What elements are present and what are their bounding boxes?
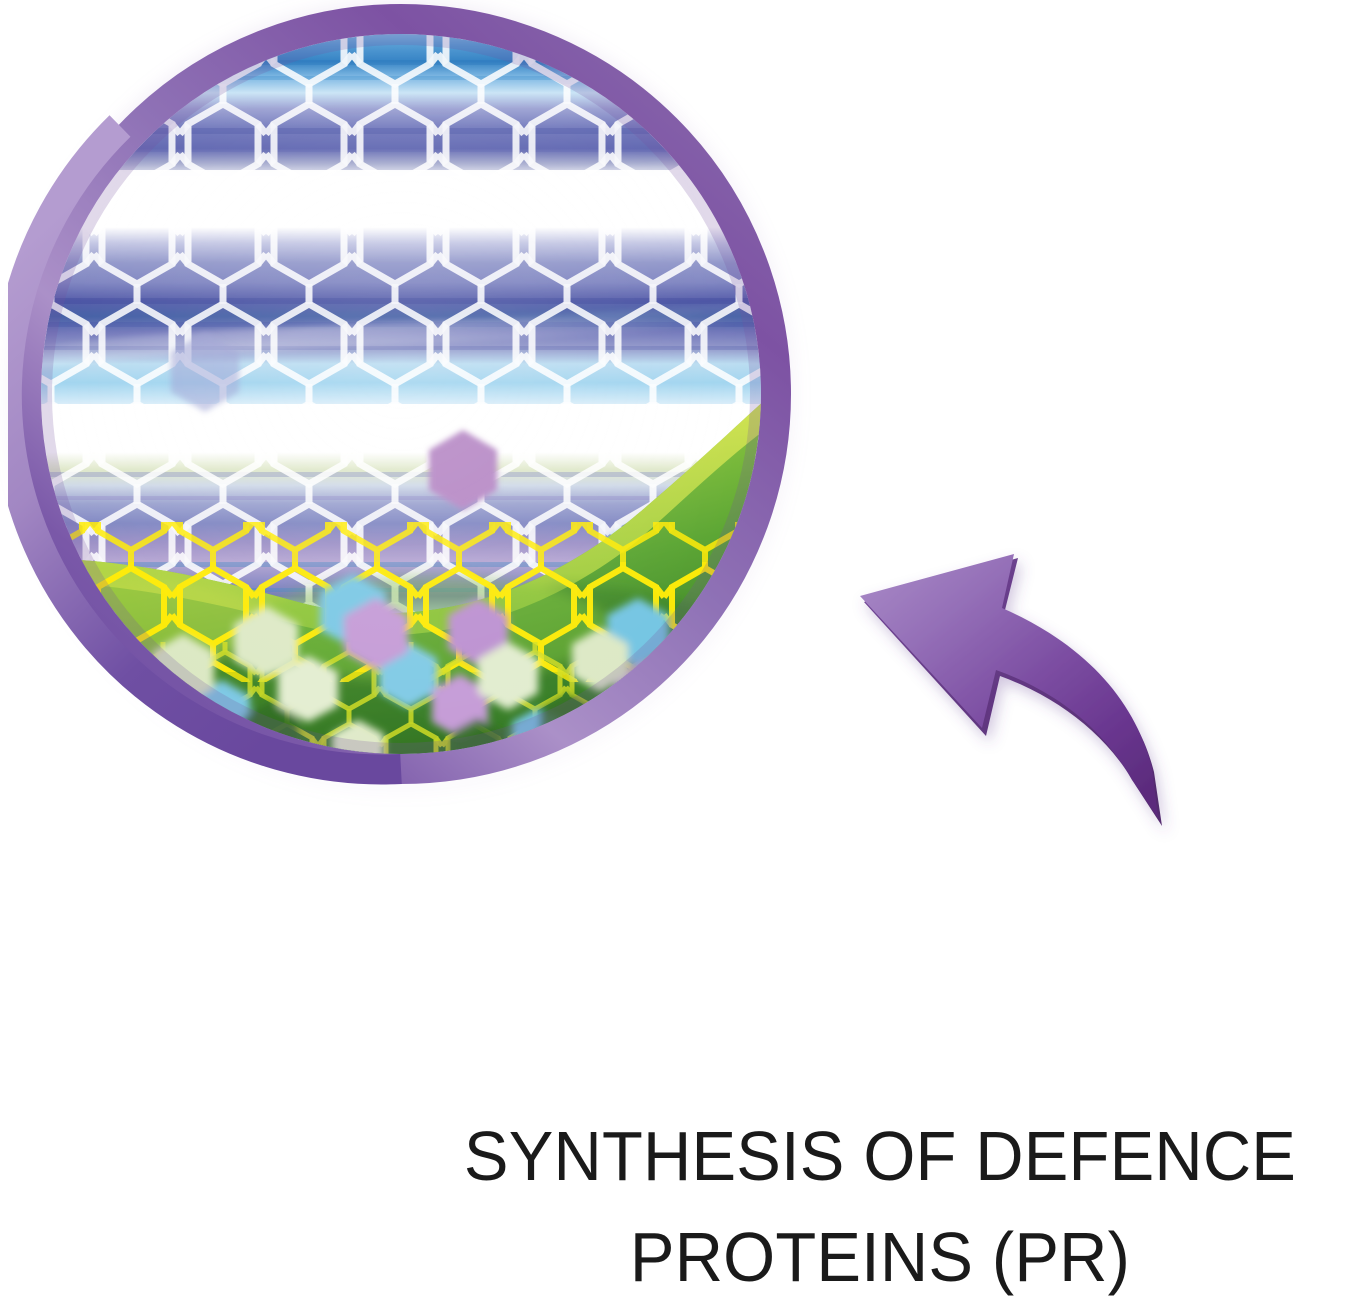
caption-label: SYNTHESIS OF DEFENCE PROTEINS (PR) [412, 1106, 1348, 1308]
caption-line-2: PROTEINS (PR) [412, 1207, 1348, 1308]
process-arrow [836, 540, 1196, 870]
diagram-canvas: SYNTHESIS OF DEFENCE PROTEINS (PR) [0, 0, 1371, 1305]
leaf-cell-circle-graphic [8, 2, 794, 792]
caption-line-1: SYNTHESIS OF DEFENCE [412, 1106, 1348, 1207]
curved-arrow-icon [836, 540, 1196, 870]
circle-illustration [8, 2, 794, 792]
